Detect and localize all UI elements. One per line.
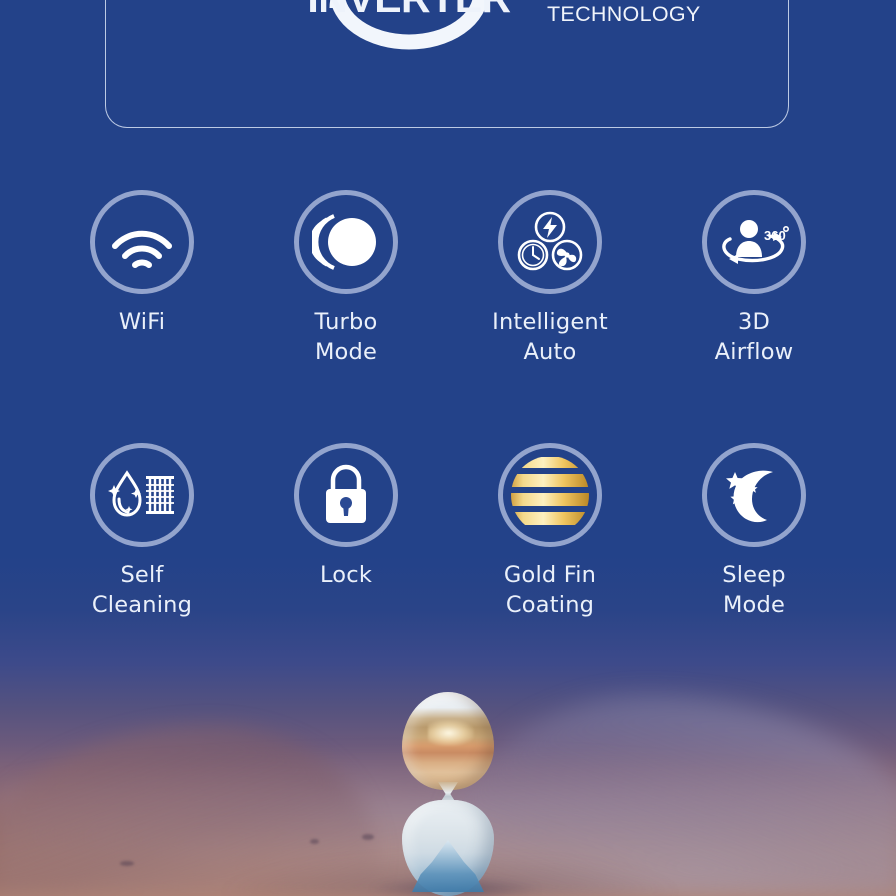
promo-banner: INVERTER TECHNOLOGY INVERTER COMPRESSOR … <box>0 0 896 896</box>
feature-gold-fin-coating[interactable]: Gold Fin Coating <box>448 443 652 620</box>
feature-grid: WiFi Turbo Mode <box>40 190 856 621</box>
feature-icon-ring <box>498 190 602 294</box>
inverter-logo: INVERTER TECHNOLOGY <box>295 0 523 54</box>
logo-wordmark: INVERTER <box>295 0 523 19</box>
feature-icon-ring <box>90 443 194 547</box>
feature-label: Sleep Mode <box>722 561 786 620</box>
feature-icon-ring <box>90 190 194 294</box>
background-speck <box>120 861 134 866</box>
feature-label: Gold Fin Coating <box>504 561 596 620</box>
padlock-icon <box>317 462 375 528</box>
wifi-icon <box>109 216 175 268</box>
feature-3d-airflow[interactable]: 360 3D Airflow <box>652 190 856 367</box>
feature-self-cleaning[interactable]: Self Cleaning <box>40 443 244 620</box>
feature-wifi[interactable]: WiFi <box>40 190 244 367</box>
intelligent-auto-icon <box>516 209 584 275</box>
turbo-fan-icon <box>312 211 380 273</box>
moon-stars-icon <box>721 462 787 528</box>
feature-label: WiFi <box>119 308 165 338</box>
feature-label: Self Cleaning <box>92 561 192 620</box>
header-frame: INVERTER TECHNOLOGY INVERTER COMPRESSOR … <box>105 0 789 128</box>
feature-icon-ring <box>294 443 398 547</box>
gold-fin-stripes-icon <box>508 453 592 537</box>
droplet-coil-icon <box>105 465 179 525</box>
feature-icon-ring <box>498 443 602 547</box>
feature-icon-ring <box>702 443 806 547</box>
hourglass-illustration <box>398 692 498 896</box>
background-speck <box>310 839 319 844</box>
feature-sleep-mode[interactable]: Sleep Mode <box>652 443 856 620</box>
feature-icon-ring <box>294 190 398 294</box>
feature-label: Intelligent Auto <box>492 308 608 367</box>
feature-label: Lock <box>320 561 372 591</box>
feature-icon-ring: 360 <box>702 190 806 294</box>
svg-text:360: 360 <box>764 228 786 243</box>
airflow-360-icon: 360 <box>716 213 792 271</box>
feature-turbo-mode[interactable]: Turbo Mode <box>244 190 448 367</box>
feature-intelligent-auto[interactable]: Intelligent Auto <box>448 190 652 367</box>
header-title: INVERTER COMPRESSOR TECHNOLOGY <box>547 0 877 29</box>
feature-label: 3D Airflow <box>715 308 794 367</box>
feature-label: Turbo Mode <box>315 308 378 367</box>
feature-lock[interactable]: Lock <box>244 443 448 620</box>
background-speck <box>362 834 374 840</box>
hourglass-sun-glow <box>428 720 474 746</box>
